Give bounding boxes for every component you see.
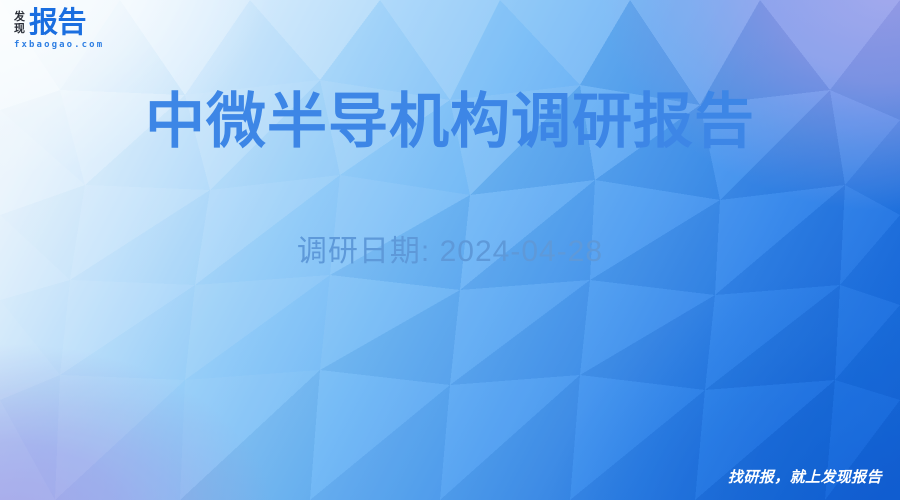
logo-wordmark: 报告 xyxy=(29,9,86,38)
brand-logo[interactable]: 发 现 报告 fxbaogao.com xyxy=(14,9,104,50)
page-title: 中微半导机构调研报告 xyxy=(0,86,900,158)
brand-slogan: 找研报，就上发现报告 xyxy=(728,468,882,488)
logo-wordmark-row: 发 现 报告 xyxy=(14,9,104,38)
subtitle-block: 调研日期: 2024-04-28 xyxy=(0,232,900,272)
survey-date-text: 调研日期: 2024-04-28 xyxy=(0,232,900,272)
headline-block: 中微半导机构调研报告 xyxy=(0,86,900,158)
report-cover-slide: 发 现 报告 fxbaogao.com 中微半导机构调研报告 调研日期: 202… xyxy=(0,0,900,500)
logo-mark-stacked: 发 现 xyxy=(14,9,25,35)
logo-mark-char-2: 现 xyxy=(14,23,25,35)
logo-mark-char-1: 发 xyxy=(14,11,25,23)
logo-url: fxbaogao.com xyxy=(14,40,104,50)
